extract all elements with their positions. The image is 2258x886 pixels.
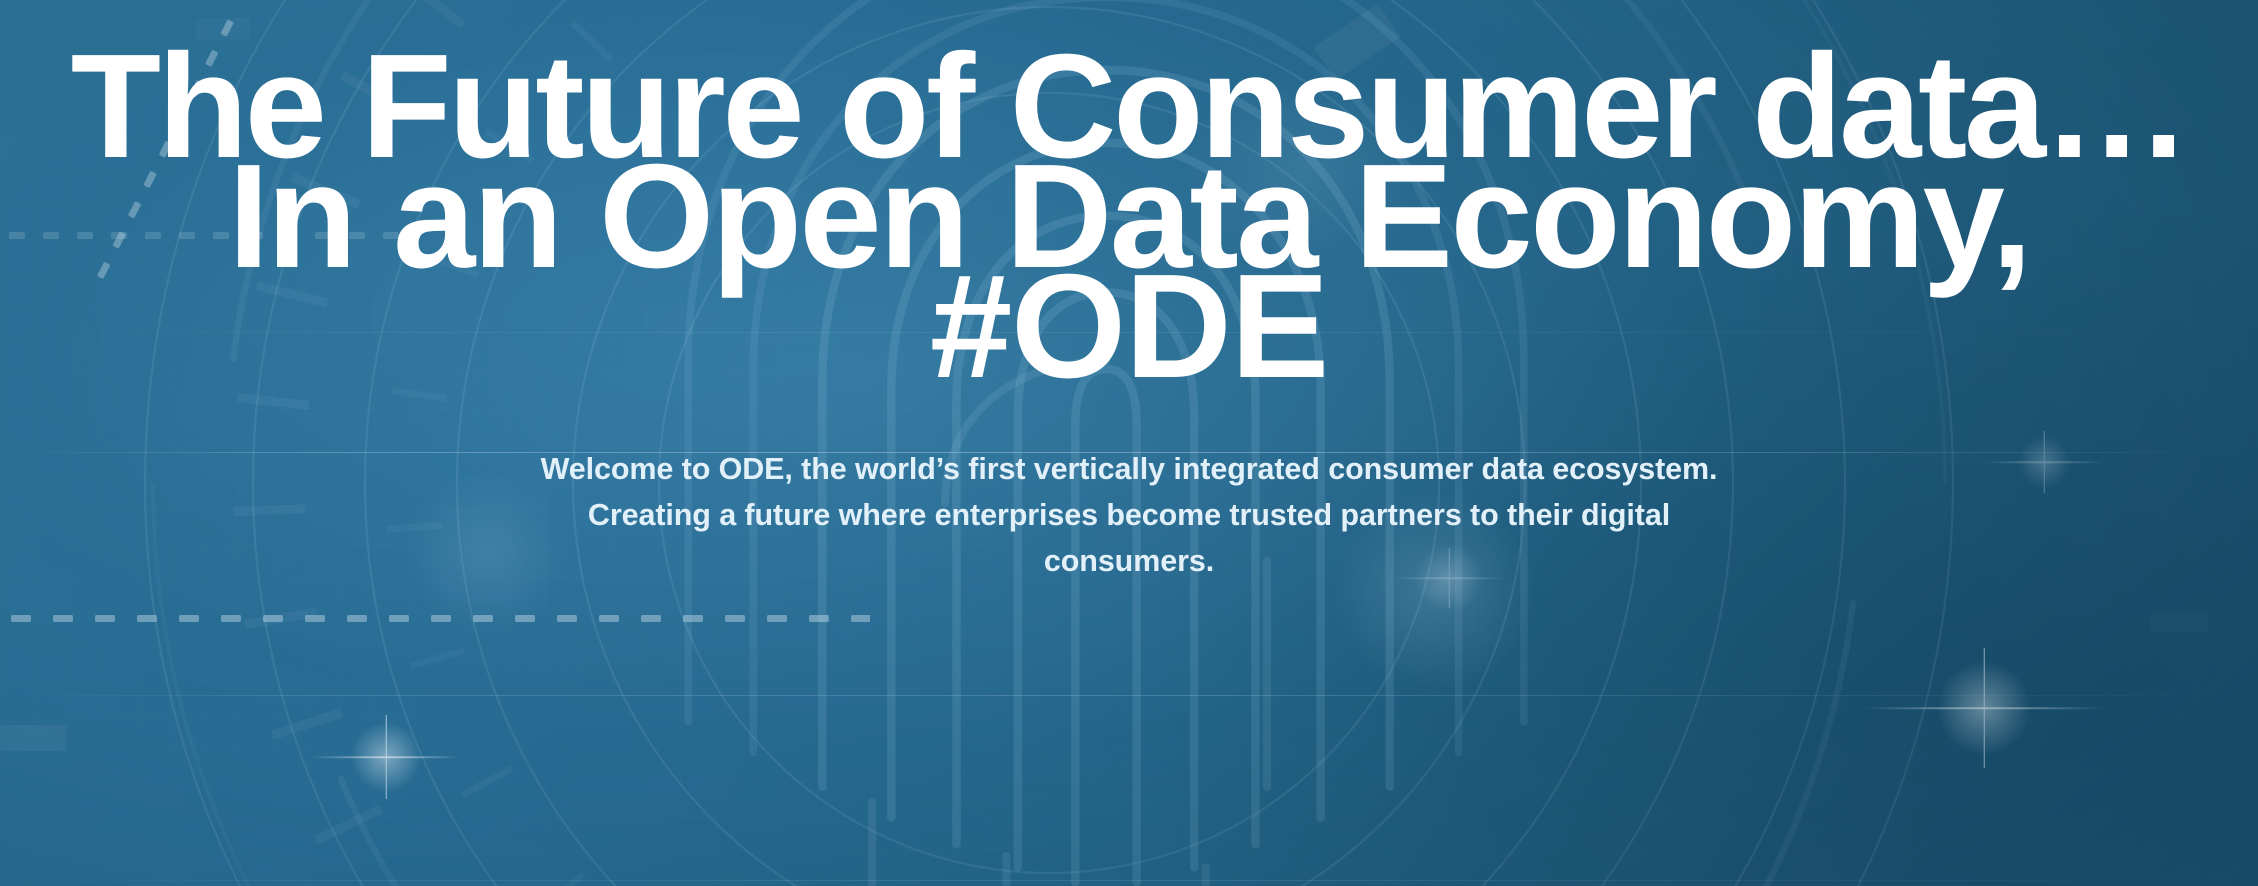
page-title: The Future of Consumer data… In an Open … [24,52,2234,382]
subtitle-line-3: consumers. [514,538,1744,584]
hero-content: The Future of Consumer data… In an Open … [0,0,2258,886]
subtitle-line-1: Welcome to ODE, the world’s first vertic… [514,446,1744,492]
hero-banner: The Future of Consumer data… In an Open … [0,0,2258,886]
subtitle-line-2: Creating a future where enterprises beco… [514,492,1744,538]
hero-subtitle: Welcome to ODE, the world’s first vertic… [514,446,1744,584]
